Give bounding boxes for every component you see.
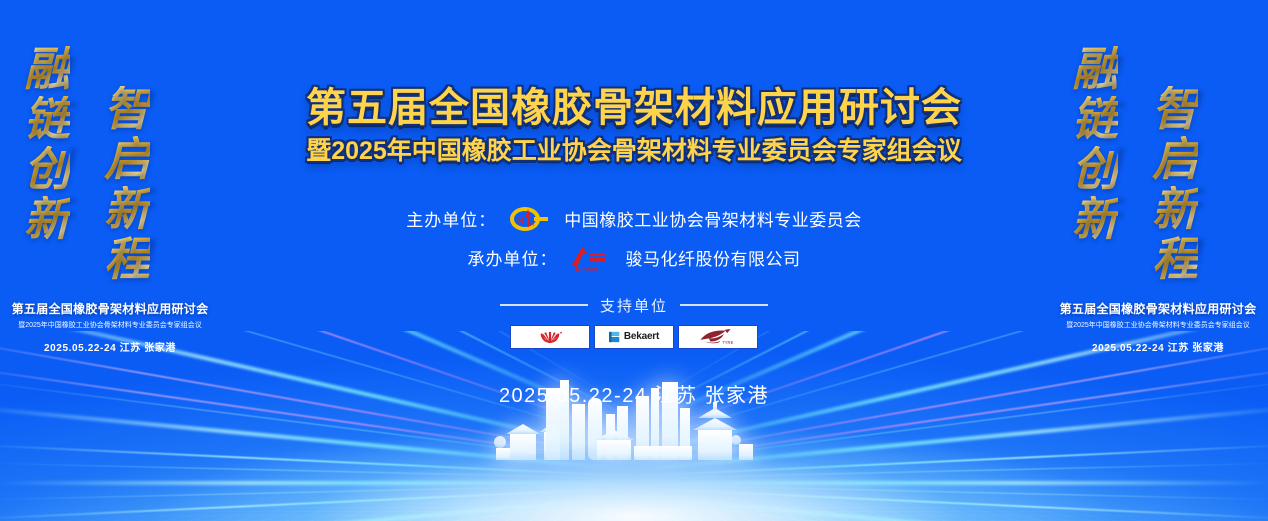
support-heading-row: 支持单位 bbox=[500, 295, 768, 316]
divider-line-left bbox=[500, 304, 588, 306]
support-heading: 支持单位 bbox=[600, 295, 668, 316]
event-date: 2025.05.22-24 江苏 张家港 bbox=[0, 379, 1268, 408]
page-title: 第五届全国橡胶骨架材料应用研讨会 bbox=[0, 86, 1268, 131]
organizers-block: 主办单位： R A 中国橡胶工业协会骨架材料专业委员会 承办单位： bbox=[0, 204, 1268, 273]
organizer-row-co-host: 承办单位： Junma 骏马化纤股份有限公司 bbox=[468, 243, 801, 273]
conference-banner: 融 链 创 新 智 启 新 程 第五届全国橡胶骨架材料应用研讨会 暨2025年中… bbox=[0, 0, 1268, 521]
junma-logo: Junma bbox=[566, 243, 618, 273]
bekaert-logo: Bekaert bbox=[594, 325, 674, 349]
organizer-label: 承办单位： bbox=[468, 245, 558, 270]
organizer-name: 中国橡胶工业协会骨架材料专业委员会 bbox=[564, 206, 862, 231]
cria-logo: R A bbox=[504, 204, 556, 234]
support-block: 支持单位 bbox=[0, 295, 1268, 349]
eagle-logo: TYRE bbox=[678, 325, 758, 349]
svg-text:R: R bbox=[518, 216, 524, 225]
organizer-row-host: 主办单位： R A 中国橡胶工业协会骨架材料专业委员会 bbox=[406, 204, 862, 234]
svg-text:TYRE: TYRE bbox=[722, 340, 733, 345]
organizer-name: 骏马化纤股份有限公司 bbox=[626, 245, 801, 270]
svg-text:A: A bbox=[530, 222, 534, 228]
organizer-label: 主办单位： bbox=[406, 206, 496, 231]
svg-text:Junma: Junma bbox=[573, 265, 597, 273]
bekaert-label: Bekaert bbox=[624, 331, 659, 342]
support-logos: Bekaert TYRE bbox=[510, 325, 758, 349]
main-content: 第五届全国橡胶骨架材料应用研讨会 暨2025年中国橡胶工业协会骨架材料专业委员会… bbox=[0, 0, 1268, 408]
divider-line-right bbox=[680, 304, 768, 306]
sunburst-logo bbox=[510, 325, 590, 349]
page-subtitle: 暨2025年中国橡胶工业协会骨架材料专业委员会专家组会议 bbox=[0, 137, 1268, 166]
